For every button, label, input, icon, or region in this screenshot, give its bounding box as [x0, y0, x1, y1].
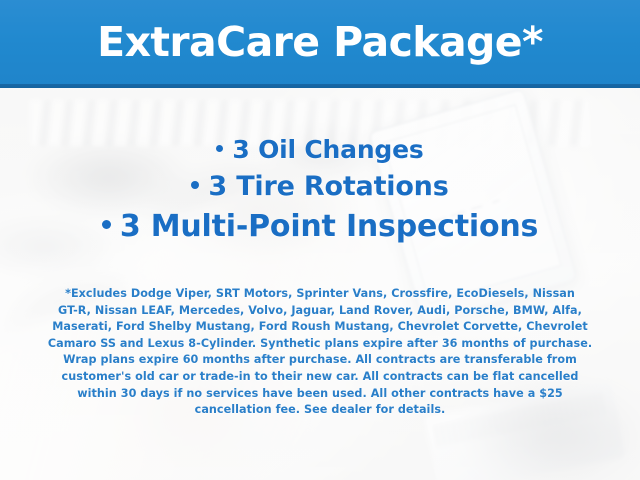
disclaimer-line: GT-R, Nissan LEAF, Mercedes, Volvo, Jagu…	[26, 303, 614, 320]
bullet-dot-icon	[191, 181, 199, 189]
disclaimer-line: within 30 days if no services have been …	[26, 386, 614, 403]
page-title: ExtraCare Package*	[0, 0, 640, 84]
disclaimer-line: *Excludes Dodge Viper, SRT Motors, Sprin…	[26, 286, 614, 303]
header-bar: ExtraCare Package*	[0, 0, 640, 88]
bullet-dot-icon	[102, 220, 111, 229]
benefit-label: 3 Oil Changes	[232, 135, 423, 164]
bullet-dot-icon	[216, 145, 223, 152]
disclaimer-text: *Excludes Dodge Viper, SRT Motors, Sprin…	[26, 286, 614, 419]
extracare-package-poster: ExtraCare Package* 3 Oil Changes 3 Tire …	[0, 0, 640, 480]
header-bottom-edge	[0, 84, 640, 88]
list-item: 3 Tire Rotations	[0, 167, 640, 205]
benefit-label: 3 Multi-Point Inspections	[120, 209, 538, 244]
disclaimer-line: Maserati, Ford Shelby Mustang, Ford Rous…	[26, 319, 614, 336]
disclaimer-line: Camaro SS and Lexus 8-Cylinder. Syntheti…	[26, 336, 614, 353]
benefits-list: 3 Oil Changes 3 Tire Rotations 3 Multi-P…	[0, 132, 640, 247]
disclaimer-line: customer's old car or trade-in to their …	[26, 369, 614, 386]
benefit-label: 3 Tire Rotations	[208, 171, 448, 202]
list-item: 3 Multi-Point Inspections	[0, 205, 640, 247]
list-item: 3 Oil Changes	[0, 132, 640, 167]
disclaimer-line: Wrap plans expire 60 months after purcha…	[26, 352, 614, 369]
disclaimer-line: cancellation fee. See dealer for details…	[26, 402, 614, 419]
